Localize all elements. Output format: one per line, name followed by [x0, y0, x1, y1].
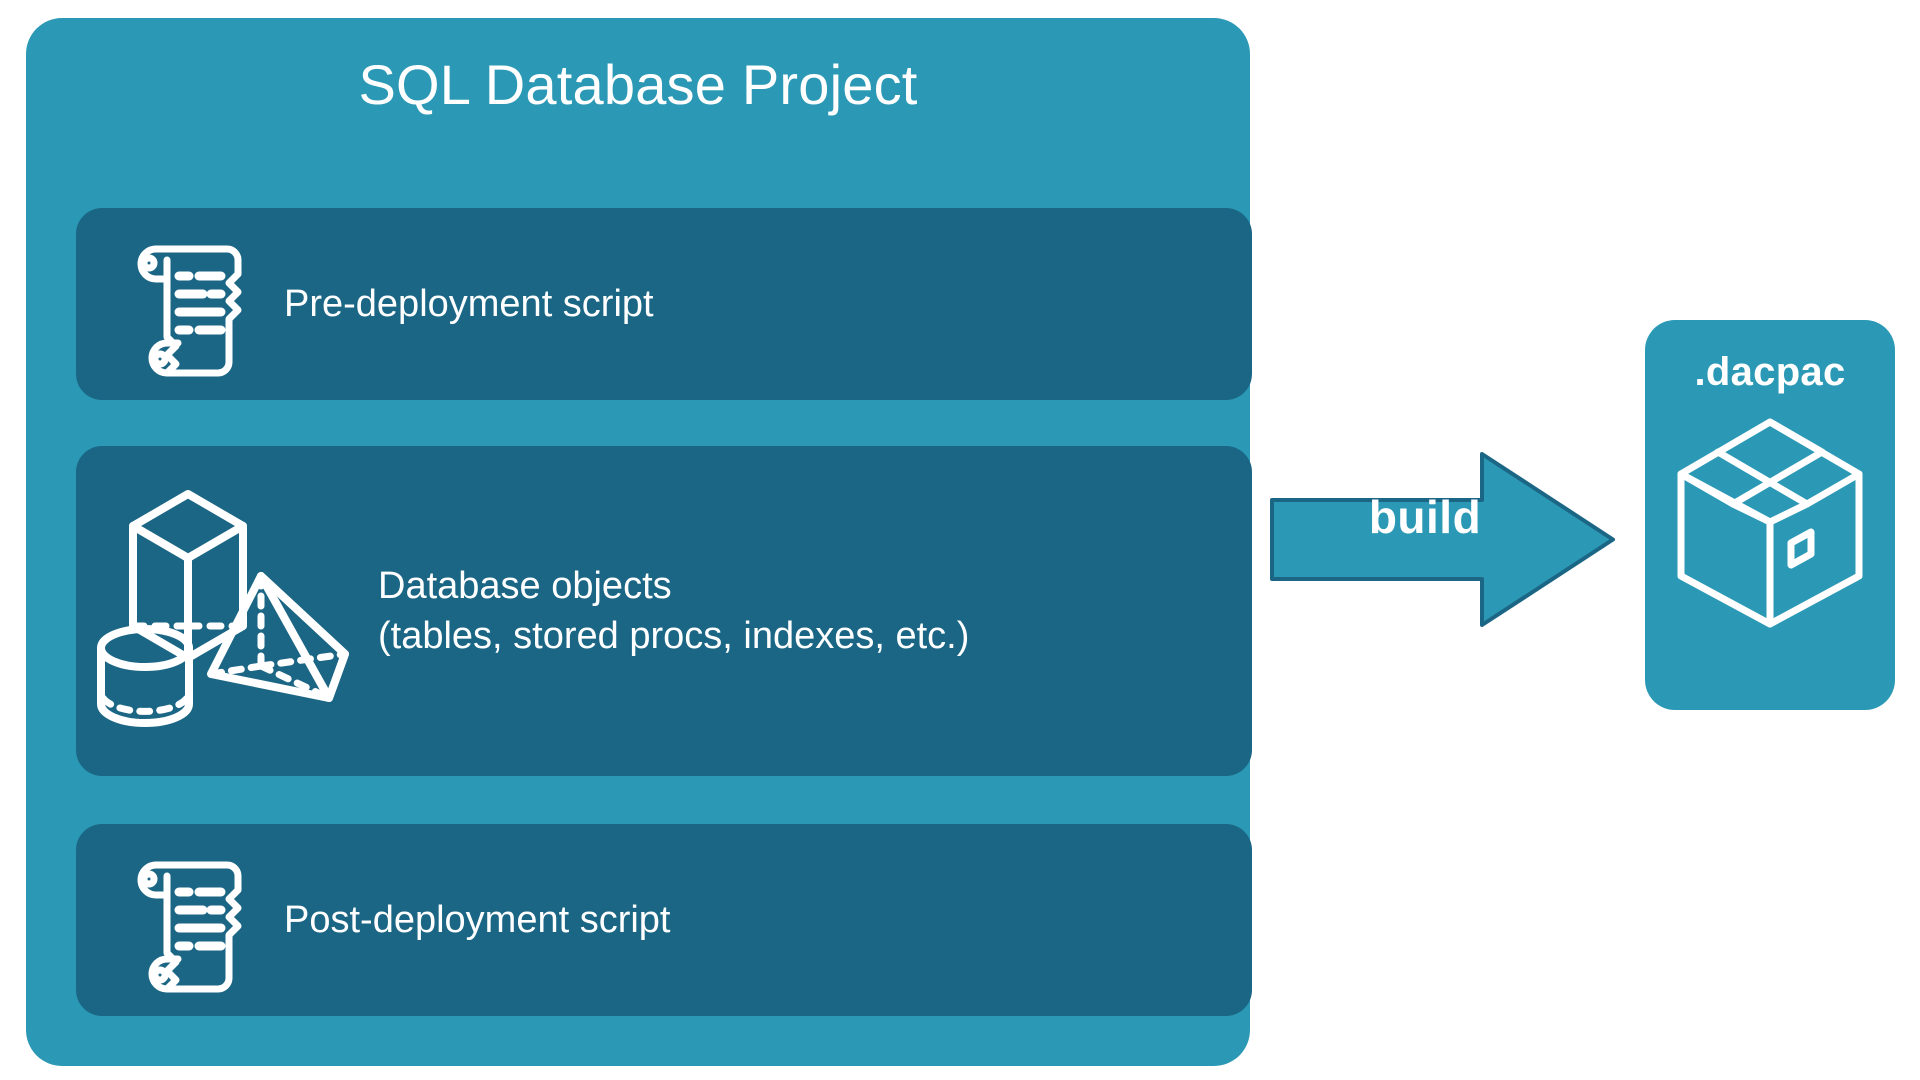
shapes-icon — [88, 476, 378, 746]
dacpac-output-panel[interactable]: .dacpac — [1645, 320, 1895, 710]
card-label-pre-deployment: Pre-deployment script — [284, 279, 654, 329]
cube-icon — [133, 494, 243, 658]
card-post-deployment[interactable]: Post-deployment script — [76, 824, 1252, 1016]
card-database-objects[interactable]: Database objects (tables, stored procs, … — [76, 446, 1252, 776]
card-label-database-objects: Database objects (tables, stored procs, … — [378, 561, 969, 661]
card-label-post-deployment: Post-deployment script — [284, 895, 671, 945]
diagram-canvas: SQL Database Project — [0, 0, 1920, 1080]
package-box-icon — [1673, 416, 1867, 630]
pyramid-icon — [211, 576, 345, 698]
scroll-icon — [94, 229, 284, 379]
cylinder-icon — [101, 629, 189, 723]
dacpac-title: .dacpac — [1645, 350, 1895, 395]
build-arrow-label: build — [1320, 490, 1530, 544]
sql-database-project-container: SQL Database Project — [26, 18, 1250, 1066]
card-pre-deployment[interactable]: Pre-deployment script — [76, 208, 1252, 400]
page-title: SQL Database Project — [26, 54, 1250, 116]
scroll-icon — [94, 845, 284, 995]
